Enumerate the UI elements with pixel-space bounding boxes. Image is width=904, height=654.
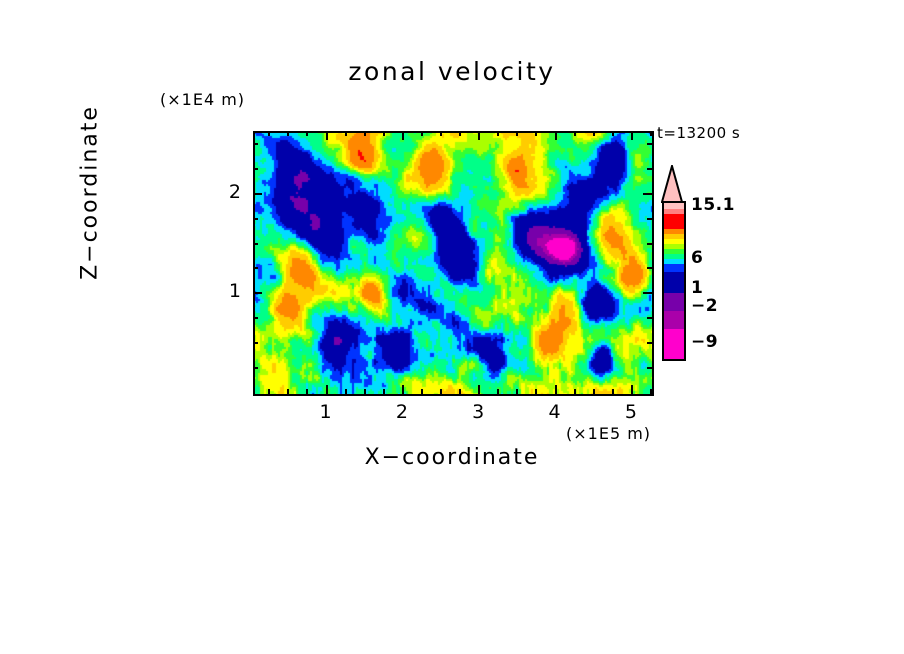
x-tick-label: 4 (535, 401, 575, 423)
axis-tick (287, 389, 289, 394)
heatmap-plot-area (253, 131, 654, 396)
axis-tick (593, 389, 595, 394)
axis-tick (383, 389, 385, 394)
axis-tick (631, 131, 633, 140)
axis-tick (253, 243, 258, 245)
axis-tick (555, 131, 557, 140)
y-tick-label: 2 (201, 181, 241, 203)
axis-tick (364, 131, 366, 136)
axis-tick (326, 385, 328, 394)
y-tick-label: 1 (201, 280, 241, 302)
axis-tick (647, 342, 652, 344)
figure-canvas: zonal velocity (×1E4 m) t=13200 s 123451… (0, 0, 904, 654)
velocity-field-image (255, 133, 652, 394)
colorbar-tick-label: −9 (691, 332, 718, 352)
colorbar-tick-label: 1 (691, 278, 703, 298)
colorbar-tick-label: 6 (691, 248, 703, 268)
axis-tick (650, 131, 652, 136)
axis-tick (421, 389, 423, 394)
colorbar-segment (664, 264, 684, 272)
axis-tick (268, 389, 270, 394)
axis-tick (459, 389, 461, 394)
axis-tick (253, 292, 262, 294)
axis-tick (478, 131, 480, 140)
axis-tick (306, 389, 308, 394)
axis-tick (402, 385, 404, 394)
axis-tick (478, 385, 480, 394)
axis-tick (253, 193, 262, 195)
axis-tick (535, 389, 537, 394)
y-axis-unit-label: (×1E4 m) (160, 90, 245, 109)
axis-tick (497, 131, 499, 136)
axis-tick (345, 131, 347, 136)
colorbar-tick-label: −2 (691, 296, 718, 316)
colorbar-arrow-icon (661, 165, 685, 203)
axis-tick (345, 389, 347, 394)
axis-tick (643, 193, 652, 195)
axis-tick (253, 367, 258, 369)
x-tick-label: 3 (458, 401, 498, 423)
x-tick-label: 2 (382, 401, 422, 423)
axis-tick (253, 267, 258, 269)
colorbar-segment (664, 311, 684, 329)
axis-tick (383, 131, 385, 136)
axis-tick (497, 389, 499, 394)
x-axis-unit-label: (×1E5 m) (566, 424, 651, 443)
axis-tick (650, 389, 652, 394)
axis-tick (253, 342, 258, 344)
axis-tick (253, 168, 258, 170)
page-title: zonal velocity (0, 57, 904, 86)
axis-tick (287, 131, 289, 136)
timestamp-annotation: t=13200 s (657, 124, 740, 142)
colorbar-gradient (662, 201, 686, 361)
axis-tick (574, 389, 576, 394)
axis-tick (631, 385, 633, 394)
axis-tick (647, 367, 652, 369)
axis-tick (402, 131, 404, 140)
colorbar-segment (664, 293, 684, 311)
axis-tick (516, 389, 518, 394)
axis-tick (643, 292, 652, 294)
axis-tick (364, 389, 366, 394)
axis-tick (647, 243, 652, 245)
x-tick-label: 1 (306, 401, 346, 423)
axis-tick (253, 143, 258, 145)
axis-tick (421, 131, 423, 136)
axis-tick (612, 389, 614, 394)
axis-tick (440, 389, 442, 394)
axis-tick (253, 218, 258, 220)
x-tick-label: 5 (611, 401, 651, 423)
colorbar-tick-label: 15.1 (691, 195, 735, 215)
colorbar-segment (664, 214, 684, 229)
axis-tick (574, 131, 576, 136)
y-axis-title: Z−coordinate (78, 43, 103, 343)
axis-tick (647, 267, 652, 269)
axis-tick (647, 168, 652, 170)
axis-tick (306, 131, 308, 136)
axis-tick (516, 131, 518, 136)
axis-tick (593, 131, 595, 136)
colorbar-segment (664, 272, 684, 293)
axis-tick (647, 317, 652, 319)
axis-tick (253, 317, 258, 319)
axis-tick (440, 131, 442, 136)
colorbar-segment (664, 329, 684, 359)
x-axis-title: X−coordinate (0, 445, 904, 470)
axis-tick (535, 131, 537, 136)
axis-tick (555, 385, 557, 394)
axis-tick (647, 218, 652, 220)
axis-tick (326, 131, 328, 140)
axis-tick (612, 131, 614, 136)
axis-tick (268, 131, 270, 136)
axis-tick (459, 131, 461, 136)
axis-tick (647, 143, 652, 145)
